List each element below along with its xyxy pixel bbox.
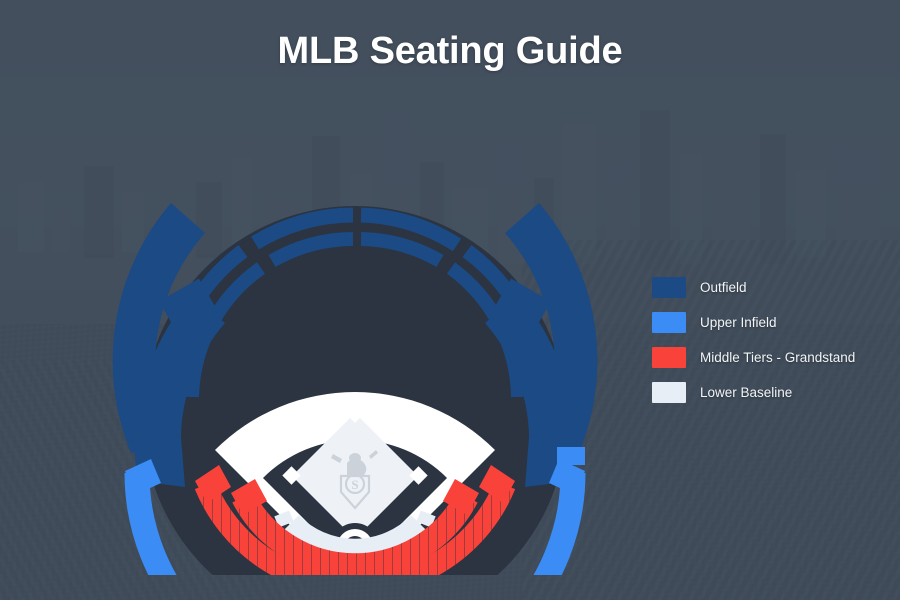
legend-swatch-outfield	[652, 277, 686, 298]
legend-swatch-lower-baseline	[652, 382, 686, 403]
stadium-seating-map-svg: S	[95, 175, 615, 575]
page-title: MLB Seating Guide	[0, 30, 900, 73]
legend: Outfield Upper Infield Middle Tiers - Gr…	[652, 270, 892, 410]
legend-label-outfield: Outfield	[700, 281, 747, 295]
stadium-diagram: S	[95, 175, 615, 575]
legend-label-upper-infield: Upper Infield	[700, 316, 777, 330]
upper-infield-notch-right[interactable]	[557, 447, 585, 465]
legend-label-middle-tiers-grandstand: Middle Tiers - Grandstand	[700, 351, 855, 365]
legend-swatch-upper-infield	[652, 312, 686, 333]
legend-item-outfield[interactable]: Outfield	[652, 270, 892, 305]
watermark-letter: S	[351, 477, 358, 492]
legend-item-upper-infield[interactable]: Upper Infield	[652, 305, 892, 340]
legend-swatch-middle-tiers-grandstand	[652, 347, 686, 368]
legend-item-lower-baseline[interactable]: Lower Baseline	[652, 375, 892, 410]
legend-item-middle-tiers-grandstand[interactable]: Middle Tiers - Grandstand	[652, 340, 892, 375]
legend-label-lower-baseline: Lower Baseline	[700, 386, 792, 400]
